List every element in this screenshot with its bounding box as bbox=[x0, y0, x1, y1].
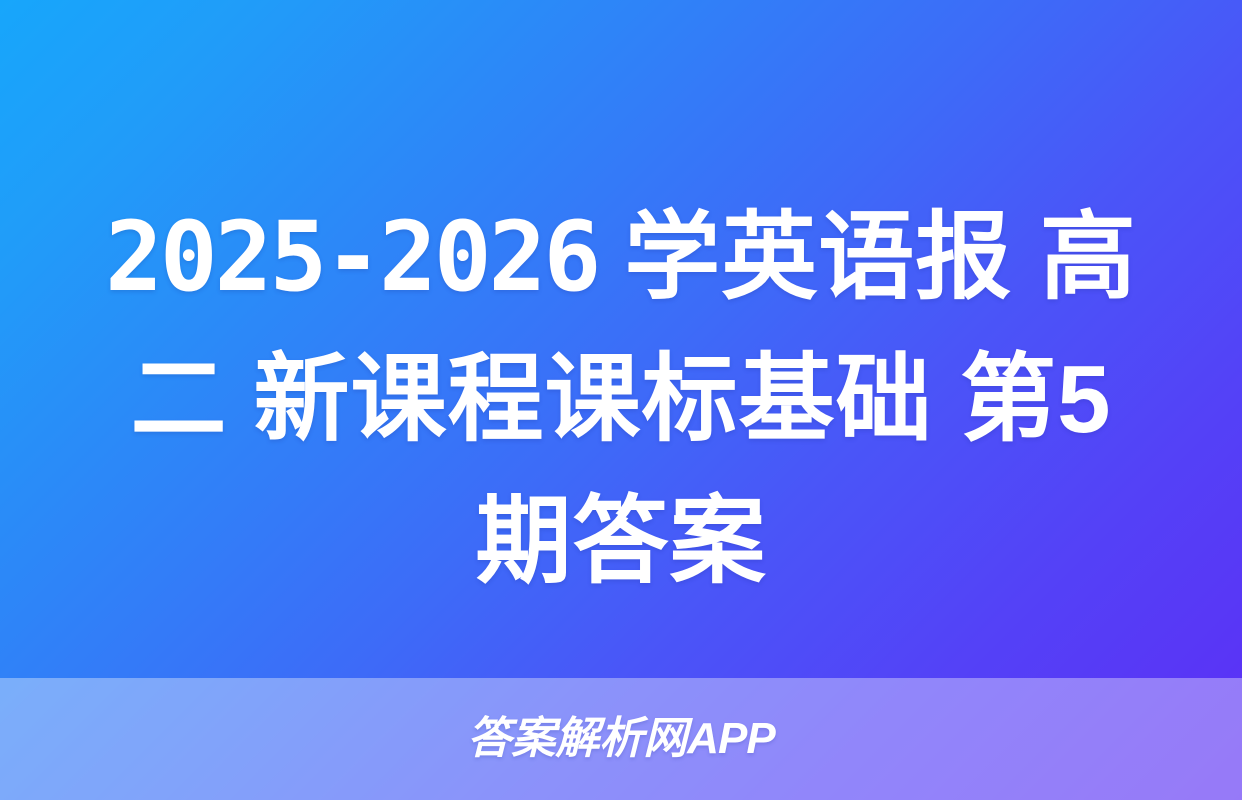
app-watermark: 答案解析网APP bbox=[467, 717, 774, 761]
page-title: 2025-2026学英语报 高 二新课程课标基础 第5 期答案 bbox=[0, 186, 1242, 613]
doc-type-text: 期答案 bbox=[476, 488, 767, 595]
answer-card-canvas: 2025-2026学英语报 高 二新课程课标基础 第5 期答案 答案解析网APP bbox=[0, 0, 1242, 800]
footer-band: 答案解析网APP bbox=[0, 678, 1242, 800]
grade-text: 二 bbox=[130, 346, 227, 453]
school-year-text: 2025-2026 bbox=[105, 201, 598, 313]
title-line-3: 期答案 bbox=[62, 471, 1180, 613]
title-line-1: 2025-2026学英语报 高 bbox=[62, 186, 1180, 329]
series-issue-text: 新课程课标基础 第5 bbox=[253, 346, 1111, 453]
title-line-2: 二新课程课标基础 第5 bbox=[62, 329, 1180, 471]
app-watermark-cn: 答案解析网 bbox=[467, 714, 687, 763]
app-watermark-latin: APP bbox=[687, 714, 774, 763]
publication-text: 学英语报 高 bbox=[624, 204, 1137, 311]
